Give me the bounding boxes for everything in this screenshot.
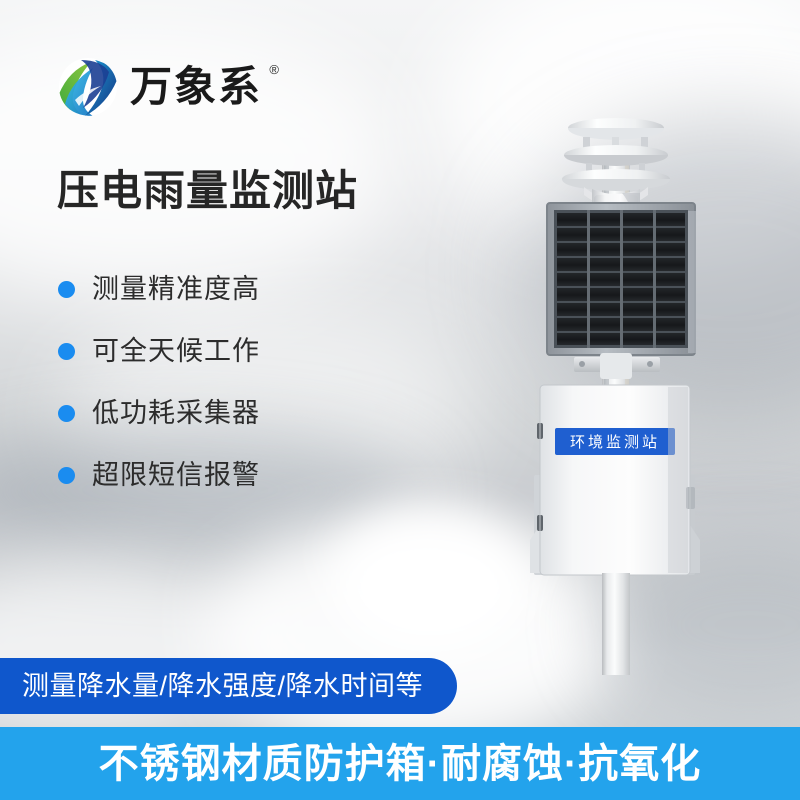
mounting-bracket bbox=[574, 353, 660, 379]
list-item: 可全天候工作 bbox=[58, 320, 378, 382]
product-poster: 环境监测站 bbox=[0, 0, 800, 800]
brand-name-block: 万象系 ® bbox=[130, 66, 262, 108]
list-item: 低功耗采集器 bbox=[58, 382, 378, 444]
globe-swirl-logo-icon bbox=[57, 56, 119, 118]
bottom-banner-text: 不锈钢材质防护箱·耐腐蚀·抗氧化 bbox=[99, 744, 702, 784]
feature-label: 测量精准度高 bbox=[92, 276, 260, 303]
feature-label: 可全天候工作 bbox=[92, 338, 260, 365]
solar-panel bbox=[547, 203, 696, 355]
product-image: 环境监测站 bbox=[500, 95, 760, 675]
feature-label: 低功耗采集器 bbox=[92, 400, 260, 427]
list-item: 超限短信报警 bbox=[58, 444, 378, 506]
bottom-banner: 不锈钢材质防护箱·耐腐蚀·抗氧化 bbox=[0, 727, 800, 800]
measurement-banner: 测量降水量/降水强度/降水时间等 bbox=[0, 658, 457, 714]
pole-front-segment bbox=[602, 573, 630, 675]
registered-mark: ® bbox=[269, 63, 279, 76]
control-enclosure: 环境监测站 bbox=[530, 385, 700, 575]
bullet-dot-icon bbox=[58, 343, 75, 360]
measurement-banner-text: 测量降水量/降水强度/降水时间等 bbox=[22, 673, 423, 700]
brand-logo: 万象系 ® bbox=[57, 56, 262, 118]
bullet-dot-icon bbox=[58, 467, 75, 484]
feature-label: 超限短信报警 bbox=[92, 462, 260, 489]
list-item: 测量精准度高 bbox=[58, 258, 378, 320]
brand-name: 万象系 bbox=[130, 66, 262, 108]
feature-list: 测量精准度高 可全天候工作 低功耗采集器 超限短信报警 bbox=[58, 258, 378, 506]
enclosure-label-text: 环境监测站 bbox=[570, 433, 660, 451]
bullet-dot-icon bbox=[58, 405, 75, 422]
page-title: 压电雨量监测站 bbox=[57, 166, 358, 216]
bullet-dot-icon bbox=[58, 281, 75, 298]
